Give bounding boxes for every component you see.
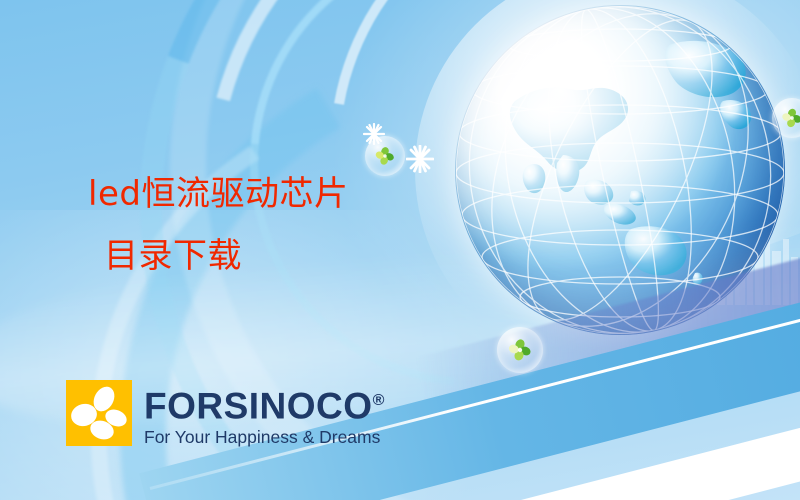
brand-name: FORSINOCO® bbox=[144, 382, 385, 425]
brand-tagline: For Your Happiness & Dreams bbox=[144, 426, 385, 448]
pinwheel-icon bbox=[375, 146, 395, 166]
sparkle-flower-2 bbox=[406, 145, 434, 173]
headline-line-1: led恒流驱动芯片 bbox=[88, 163, 348, 225]
logo-text-block: FORSINOCO® For Your Happiness & Dreams bbox=[144, 380, 385, 448]
registered-trademark-symbol: ® bbox=[373, 392, 385, 409]
bubble-pinwheel-1 bbox=[365, 136, 405, 176]
bubble-pinwheel-2 bbox=[497, 327, 543, 373]
brand-word: FORSINOCO bbox=[144, 385, 373, 426]
company-logo: FORSINOCO® For Your Happiness & Dreams bbox=[66, 380, 385, 448]
pinwheel-icon bbox=[782, 108, 800, 129]
logo-mark-square bbox=[66, 380, 132, 446]
headline-line-2: 目录下载 bbox=[88, 225, 348, 287]
pinwheel-icon bbox=[508, 338, 532, 362]
promo-banner: led恒流驱动芯片 目录下载 FORSINOCO® For Your Happi… bbox=[0, 0, 800, 500]
pinwheel-four-petal-icon bbox=[66, 380, 132, 446]
headline-block: led恒流驱动芯片 目录下载 bbox=[88, 163, 348, 287]
